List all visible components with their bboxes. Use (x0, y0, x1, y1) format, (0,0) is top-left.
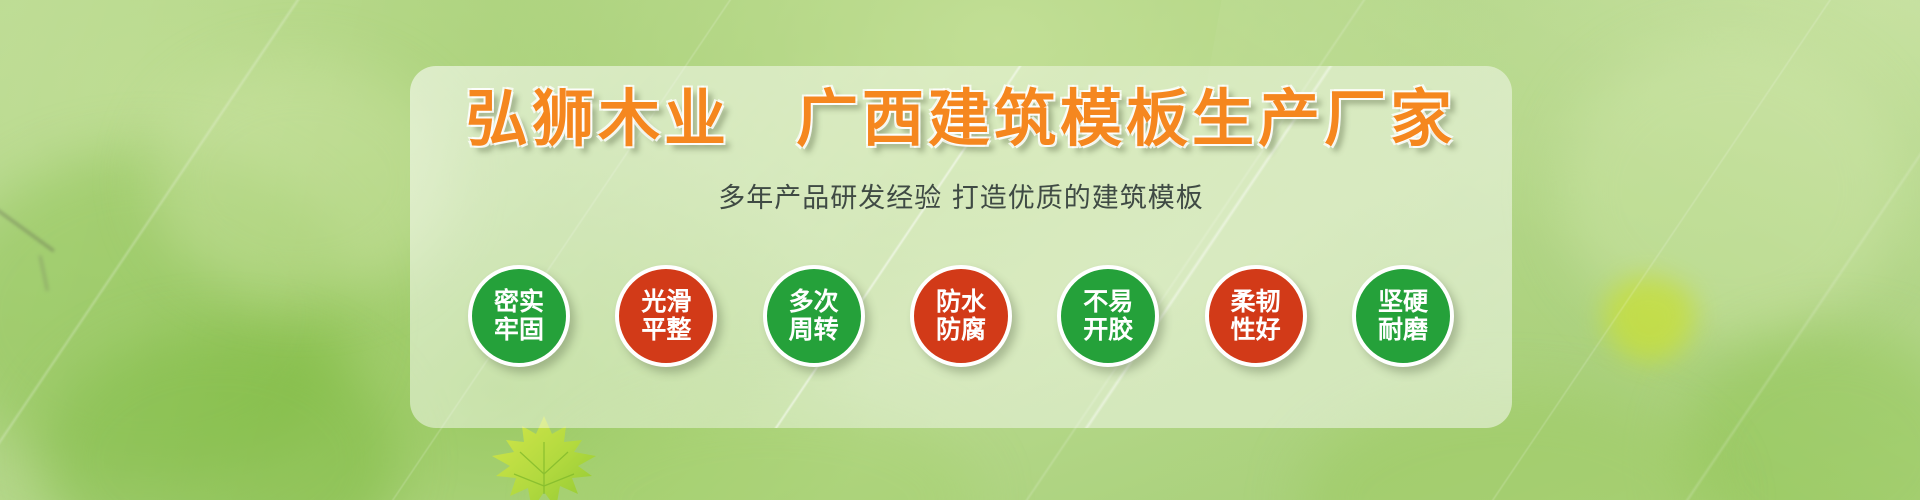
badge-line-2: 平整 (641, 316, 691, 345)
badge-line-2: 性好 (1231, 316, 1281, 345)
badge-line-1: 密实 (494, 288, 544, 317)
page-subtitle: 多年产品研发经验 打造优质的建筑模板 (410, 176, 1512, 215)
page-title: 弘狮木业 广西建筑模板生产厂家 (410, 80, 1512, 158)
badge-line-2: 防腐 (936, 316, 986, 345)
badge-line-1: 光滑 (641, 288, 691, 317)
feature-badge[interactable]: 密实 牢固 (468, 265, 570, 367)
badge-line-1: 防水 (936, 288, 986, 317)
badge-line-1: 柔韧 (1231, 288, 1281, 317)
feature-badge[interactable]: 防水 防腐 (910, 265, 1012, 367)
feature-badge[interactable]: 坚硬 耐磨 (1352, 265, 1454, 367)
badge-line-1: 不易 (1083, 288, 1133, 317)
promo-banner: 弘狮木业 广西建筑模板生产厂家 多年产品研发经验 打造优质的建筑模板 密实 牢固… (0, 0, 1920, 500)
badge-line-2: 周转 (789, 316, 839, 345)
badge-line-2: 牢固 (494, 316, 544, 345)
feature-badge[interactable]: 多次 周转 (763, 265, 865, 367)
feature-badge[interactable]: 柔韧 性好 (1205, 265, 1307, 367)
badge-line-1: 多次 (789, 288, 839, 317)
feature-badge[interactable]: 光滑 平整 (615, 265, 717, 367)
feature-badge-row: 密实 牢固 光滑 平整 多次 周转 防水 防腐 不易 开胶 柔韧 性好 (468, 256, 1454, 376)
feature-badge[interactable]: 不易 开胶 (1057, 265, 1159, 367)
badge-line-1: 坚硬 (1378, 288, 1428, 317)
content-panel: 弘狮木业 广西建筑模板生产厂家 多年产品研发经验 打造优质的建筑模板 密实 牢固… (410, 66, 1512, 428)
badge-line-2: 开胶 (1083, 316, 1133, 345)
background-blur-blob (150, 60, 450, 300)
badge-line-2: 耐磨 (1378, 316, 1428, 345)
